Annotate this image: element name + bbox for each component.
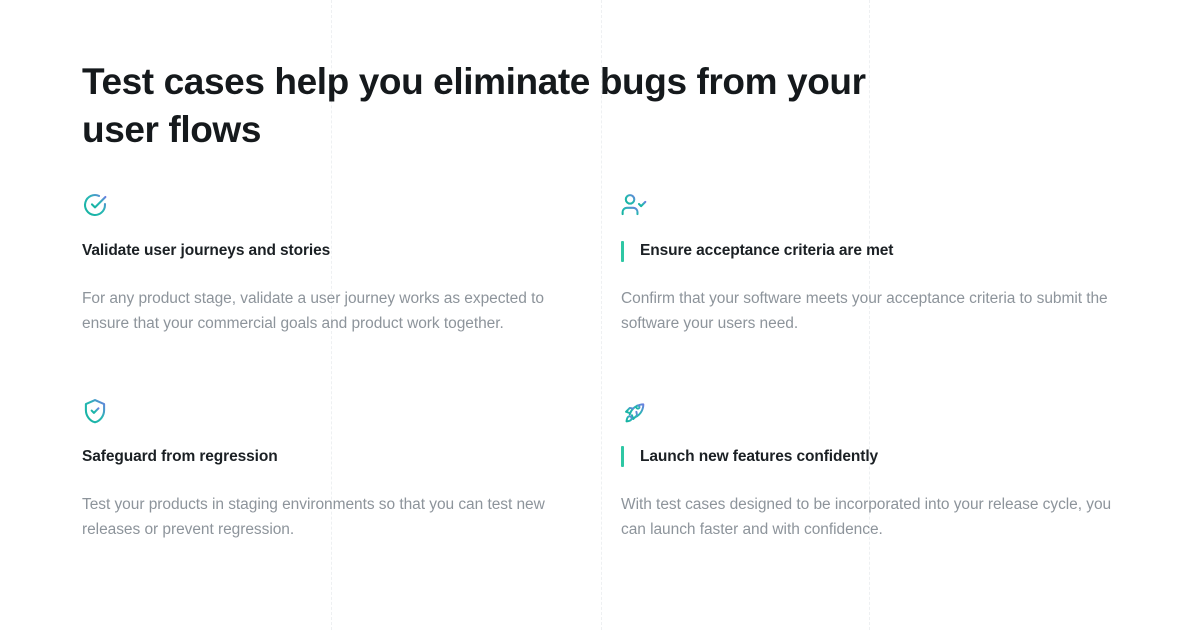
feature-description: With test cases designed to be incorpora… [621,492,1120,542]
user-check-icon [621,192,649,218]
accent-bar [621,241,624,262]
feature-title-row: Ensure acceptance criteria are met [621,240,1120,262]
feature-title-row: Safeguard from regression [82,446,601,468]
check-circle-icon [82,192,110,218]
feature-cell-2: Ensure acceptance criteria are met Confi… [601,192,1120,398]
shield-check-icon [82,398,110,424]
rocket-icon [621,398,649,424]
feature-cell-4: Launch new features confidently With tes… [601,398,1120,558]
feature-title: Launch new features confidently [640,446,878,468]
accent-bar [621,446,624,467]
feature-cell-1: Validate user journeys and stories For a… [82,192,601,398]
feature-title: Ensure acceptance criteria are met [640,240,893,262]
feature-description: For any product stage, validate a user j… [82,286,582,336]
feature-description: Confirm that your software meets your ac… [621,286,1120,336]
feature-grid: Validate user journeys and stories For a… [82,192,1200,557]
feature-card-validate-user-journeys: Validate user journeys and stories For a… [82,192,601,398]
feature-title-row: Validate user journeys and stories [82,240,601,262]
feature-description: Test your products in staging environmen… [82,492,582,542]
page-title: Test cases help you eliminate bugs from … [82,0,872,154]
feature-cell-3: Safeguard from regression Test your prod… [82,398,601,558]
feature-card-safeguard-regression: Safeguard from regression Test your prod… [82,398,601,542]
page-content: Test cases help you eliminate bugs from … [0,0,1200,630]
feature-title: Safeguard from regression [82,446,278,468]
feature-card-acceptance-criteria: Ensure acceptance criteria are met Confi… [621,192,1120,398]
feature-card-launch-features: Launch new features confidently With tes… [621,398,1120,542]
feature-title-row: Launch new features confidently [621,446,1120,468]
feature-title: Validate user journeys and stories [82,240,330,262]
